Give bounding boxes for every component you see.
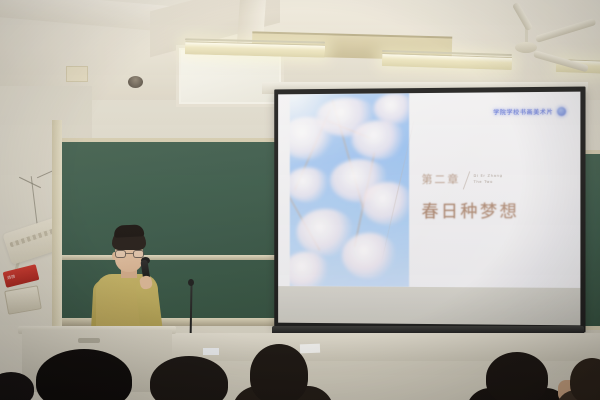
audience-head-3 [250, 344, 308, 400]
chapter-subtitle: Di Er Zhang The Two [473, 170, 502, 183]
wall-notice [66, 66, 88, 82]
lectern-handle [78, 338, 100, 343]
slide-header-text: 学院学校书画美术片 [493, 107, 553, 117]
glasses-icon [115, 250, 144, 258]
projected-slide: 学院学校书画美术片 第二章 Di Er Zhang The Two 春日种梦想 [278, 92, 580, 288]
ceiling-fan [515, 42, 537, 53]
classroom-photo: 消防 [0, 0, 600, 400]
projector-screen: 学院学校书画美术片 第二章 Di Er Zhang The Two 春日种梦想 [274, 87, 585, 333]
chapter-slash [463, 171, 470, 189]
glasses-bridge [126, 253, 133, 254]
screen-surface: 学院学校书画美术片 第二章 Di Er Zhang The Two 春日种梦想 [278, 92, 580, 326]
presenter-hair-top [114, 224, 145, 238]
microphone-stand-head [188, 279, 194, 286]
desk-paper-1 [300, 344, 320, 354]
blackboard-left-frame [52, 120, 62, 330]
ceiling-speaker [128, 76, 143, 88]
glasses-left-lens [115, 250, 126, 258]
chapter-row: 第二章 Di Er Zhang The Two [421, 170, 568, 189]
desk-paper-2 [203, 348, 219, 355]
school-emblem-logo [557, 106, 566, 115]
fire-box-label: 消防 [6, 273, 16, 281]
chapter-label: 第二章 [421, 171, 460, 187]
ac-vent-grille [9, 228, 56, 248]
audience-head-4 [486, 352, 548, 400]
chapter-subtitle-line2: The Two [473, 179, 502, 183]
slide-title-block: 第二章 Di Er Zhang The Two 春日种梦想 [421, 170, 568, 222]
slide-photo-cherry-blossoms [290, 93, 409, 287]
chapter-subtitle-line1: Di Er Zhang [473, 173, 502, 177]
window-glass [181, 50, 279, 102]
slide-photo-highlight [290, 93, 357, 167]
slide-header: 学院学校书画美术片 [493, 106, 566, 116]
slide-title: 春日种梦想 [421, 196, 568, 221]
